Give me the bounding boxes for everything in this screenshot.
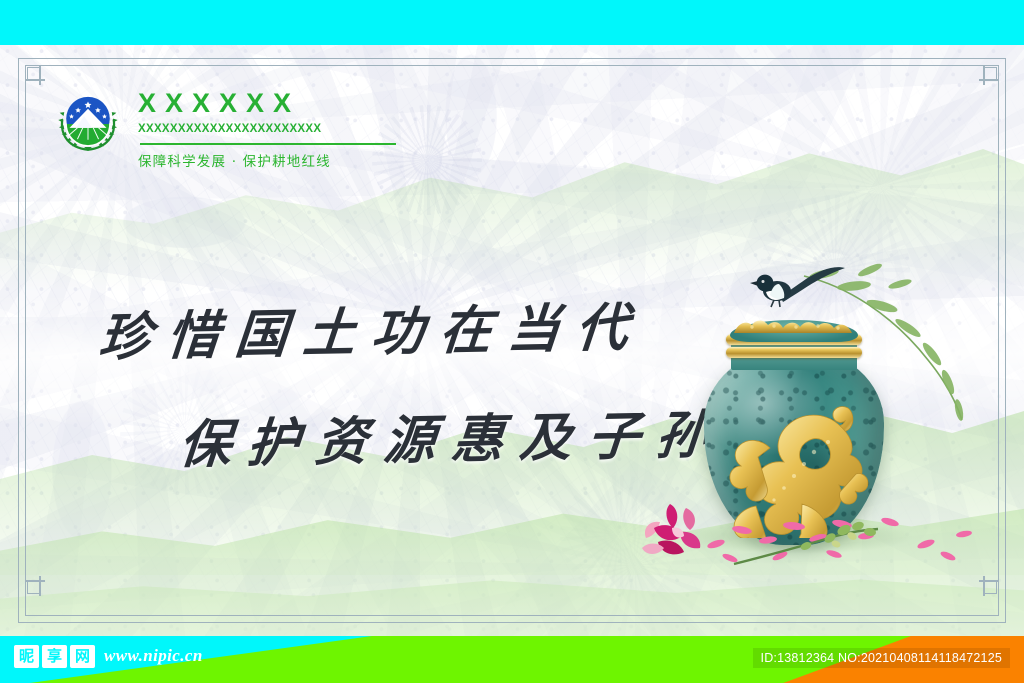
organization-text-block: XXXXXX XXXXXXXXXXXXXXXXXXXXXXX 保障科学发展 · … [138, 87, 396, 170]
nipic-url[interactable]: www.nipic.cn [104, 646, 203, 666]
poster-screenshot: XXXXXX XXXXXXXXXXXXXXXXXXXXXXX 保障科学发展 · … [0, 0, 1024, 683]
top-cyan-band [0, 0, 1024, 45]
brand-char-3: 网 [70, 645, 95, 668]
poster-canvas: XXXXXX XXXXXXXXXXXXXXXXXXXXXXX 保障科学发展 · … [0, 45, 1024, 636]
organization-divider [140, 143, 396, 145]
brand-char-1: 昵 [14, 645, 39, 668]
slogan-line-1: 珍惜国土功在当代 [96, 285, 663, 371]
magnolia-blossom-icon [640, 498, 720, 560]
organization-tagline: 保障科学发展 · 保护耕地红线 [138, 150, 396, 170]
bud-branch-icon [732, 520, 882, 570]
organization-subname: XXXXXXXXXXXXXXXXXXXXXXX [138, 123, 396, 135]
slogan-line-2: 保护资源惠及子孙 [176, 393, 663, 477]
slogan-block: 珍惜国土功在当代 保护资源惠及子孙 [0, 290, 660, 473]
frame-corner-top-left [25, 65, 59, 99]
organization-header: XXXXXX XXXXXXXXXXXXXXXXXXXXXXX 保障科学发展 · … [55, 87, 396, 170]
nipic-logo[interactable]: 昵 享 网 www.nipic.cn [14, 645, 203, 668]
frame-corner-top-right [965, 65, 999, 99]
jar-lid-gold-relief-icon [728, 317, 860, 337]
magpie-icon [750, 262, 846, 316]
land-resources-emblem-icon [55, 87, 121, 153]
organization-name: XXXXXX [138, 89, 396, 117]
brand-char-2: 享 [42, 645, 67, 668]
jar-gold-rim-lower [726, 347, 862, 358]
image-id-label: ID:13812364 NO:20210408114118472125 [753, 648, 1010, 668]
nipic-brand-mark: 昵 享 网 [14, 645, 95, 668]
frame-corner-bottom-left [25, 562, 59, 596]
footer-band: 昵 享 网 www.nipic.cn ID:13812364 NO:202104… [0, 636, 1024, 683]
artwork-composition [636, 220, 996, 620]
